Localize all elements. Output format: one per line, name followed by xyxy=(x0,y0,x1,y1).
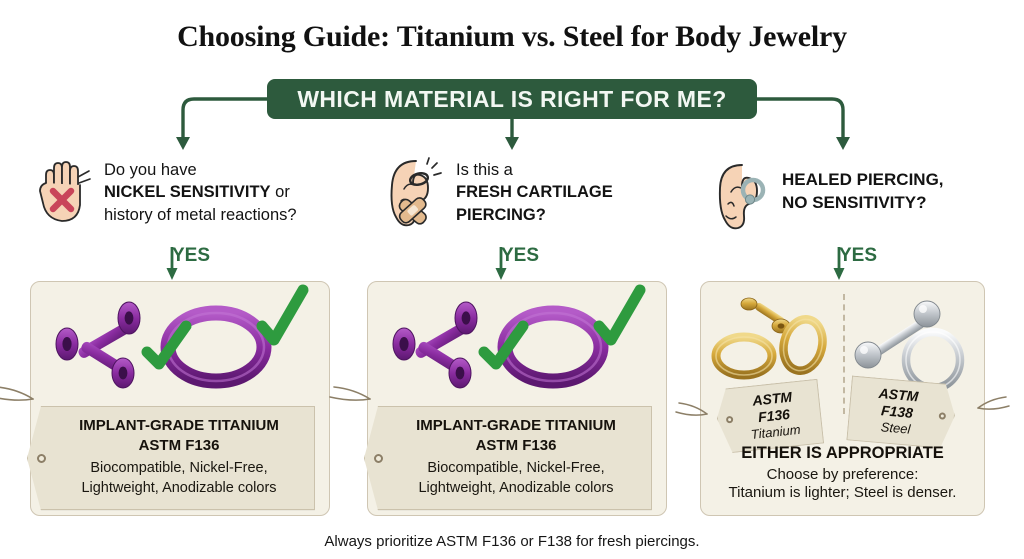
tag-eyelet-icon xyxy=(374,454,383,463)
branch-1-yes-label: YES xyxy=(166,245,210,267)
branch-1-question: Do you have NICKEL SENSITIVITY or histor… xyxy=(34,155,297,232)
branch-3-yes-label: YES xyxy=(833,245,877,267)
card3-body-line1: Choose by preference: xyxy=(701,466,984,483)
yes-text-3: YES xyxy=(839,245,877,267)
mini-tag-steel: ASTM F138 Steel xyxy=(846,376,957,450)
q1-line2-bold: NICKEL SENSITIVITY xyxy=(104,183,271,201)
hand-nickel-allergy-icon xyxy=(34,155,96,232)
mini-tag-eyelet-icon xyxy=(939,412,947,420)
q2-line2-bold: FRESH CARTILAGE xyxy=(456,183,613,201)
tag-string-1 xyxy=(0,384,35,414)
banner-label: WHICH MATERIAL IS RIGHT FOR ME? xyxy=(297,86,726,113)
branch-2-yes-label: YES xyxy=(495,245,539,267)
card3-text-block: EITHER IS APPROPRIATE Choose by preferen… xyxy=(701,444,984,501)
branch-3-question: HEALED PIERCING, NO SENSITIVITY? xyxy=(712,160,944,239)
branch-2-question-text: Is this a FRESH CARTILAGE PIERCING? xyxy=(456,155,613,226)
branch-1-question-text: Do you have NICKEL SENSITIVITY or histor… xyxy=(104,155,297,226)
tag-desc-1-line1: Biocompatible, Nickel-Free, xyxy=(90,460,267,476)
mini-tag-titanium: ASTM F136 Titanium xyxy=(714,379,824,454)
tag-string-2 xyxy=(320,384,372,414)
q2-line3-bold: PIERCING? xyxy=(456,206,546,224)
q3-line2: NO SENSITIVITY? xyxy=(782,193,927,212)
main-question-banner: WHICH MATERIAL IS RIGHT FOR ME? xyxy=(267,79,757,119)
result-card-2: IMPLANT-GRADE TITANIUM ASTM F136 Biocomp… xyxy=(367,281,667,516)
titanium-jewelry-illustration-2 xyxy=(368,282,666,394)
healed-piercing-ear-icon xyxy=(712,160,774,239)
result-tag-2: IMPLANT-GRADE TITANIUM ASTM F136 Biocomp… xyxy=(364,406,652,510)
page-title: Choosing Guide: Titanium vs. Steel for B… xyxy=(0,20,1024,54)
q1-line1: Do you have xyxy=(104,161,197,179)
tag-title-2: IMPLANT-GRADE TITANIUM xyxy=(391,417,641,436)
tag-standard-1: ASTM F136 xyxy=(54,436,304,456)
tag-title-1: IMPLANT-GRADE TITANIUM xyxy=(54,417,304,436)
fresh-cartilage-piercing-ear-icon xyxy=(382,155,448,238)
tag-desc-2-line1: Biocompatible, Nickel-Free, xyxy=(427,460,604,476)
result-card-1: IMPLANT-GRADE TITANIUM ASTM F136 Biocomp… xyxy=(30,281,330,516)
footer-note: Always prioritize ASTM F136 or F138 for … xyxy=(0,533,1024,550)
mini-tag-string-right xyxy=(976,394,1014,420)
tag-standard-2: ASTM F136 xyxy=(391,436,641,456)
q1-line2-tail: or xyxy=(271,183,290,201)
card3-headline: EITHER IS APPROPRIATE xyxy=(701,444,984,463)
branch-2-question: Is this a FRESH CARTILAGE PIERCING? xyxy=(382,155,613,238)
mini-tag-string-left xyxy=(671,400,709,426)
branch-3-question-text: HEALED PIERCING, NO SENSITIVITY? xyxy=(782,160,944,215)
tag-desc-1-line2: Lightweight, Anodizable colors xyxy=(81,480,276,496)
q1-line3: history of metal reactions? xyxy=(104,206,297,224)
mini-tag-eyelet-icon xyxy=(726,415,734,423)
result-card-3: ASTM F136 Titanium ASTM F138 Steel EITHE… xyxy=(700,281,985,516)
titanium-jewelry-illustration-1 xyxy=(31,282,329,394)
gold-and-steel-jewelry-illustration xyxy=(701,282,984,394)
yes-text-1: YES xyxy=(172,245,210,267)
tag-desc-2-line2: Lightweight, Anodizable colors xyxy=(418,480,613,496)
q2-line1: Is this a xyxy=(456,161,513,179)
yes-text-2: YES xyxy=(501,245,539,267)
q3-line1: HEALED PIERCING, xyxy=(782,170,944,189)
result-tag-1: IMPLANT-GRADE TITANIUM ASTM F136 Biocomp… xyxy=(27,406,315,510)
tag-eyelet-icon xyxy=(37,454,46,463)
card3-body-line2: Titanium is lighter; Steel is denser. xyxy=(701,484,984,501)
